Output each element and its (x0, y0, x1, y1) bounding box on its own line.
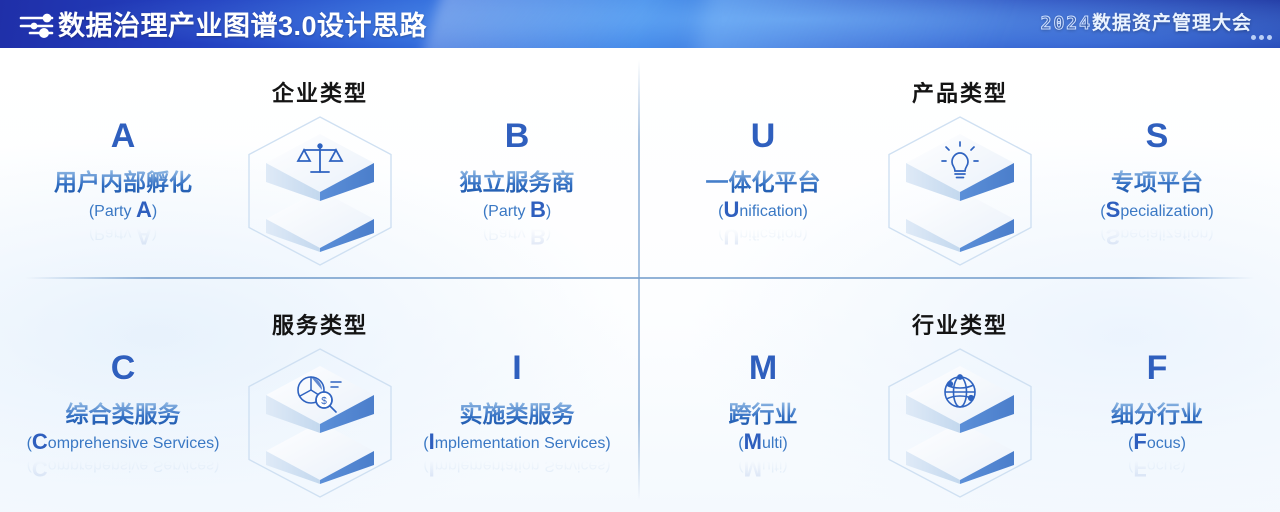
conference-name: 数据资产管理大会 (1092, 13, 1252, 34)
header-dots-decoration (1248, 27, 1272, 45)
item-label-en-reflection: (Implementation Services) (398, 455, 636, 478)
item-label-en: (Specialization) (1038, 200, 1276, 222)
globe-network-icon (883, 346, 1037, 500)
item-letter: S (1038, 116, 1276, 156)
slide-root: 数据治理产业图谱3.0设计思路 2024数据资产管理大会 企业类型 A 用户内部… (0, 0, 1280, 512)
item-label-en-reflection: (Focus) (1038, 455, 1276, 478)
quadrant-title: 企业类型 (0, 76, 640, 108)
item-label-cn: 专项平台 (1038, 168, 1276, 196)
item-u[interactable]: U 一体化平台 (Unification) (Unification) (644, 116, 882, 246)
item-m[interactable]: M 跨行业 (Multi) (Multi) (644, 348, 882, 478)
item-label-en: (Focus) (1038, 432, 1276, 454)
item-label-en: (Unification) (644, 200, 882, 222)
quadrant-title: 行业类型 (640, 308, 1280, 340)
quadrant-row: A 用户内部孵化 (Party A) (Party A) (0, 114, 640, 274)
item-a[interactable]: A 用户内部孵化 (Party A) (Party A) (4, 116, 242, 246)
lightbulb-icon (883, 114, 1037, 268)
item-label-cn: 细分行业 (1038, 400, 1276, 428)
item-b[interactable]: B 独立服务商 (Party B) (Party B) (398, 116, 636, 246)
item-label-cn: 用户内部孵化 (4, 168, 242, 196)
item-label-en-reflection: (Comprehensive Services) (4, 455, 242, 478)
item-letter: B (398, 116, 636, 156)
item-label-en: (Implementation Services) (398, 432, 636, 454)
item-label-en: (Multi) (644, 432, 882, 454)
quadrant-title: 产品类型 (640, 76, 1280, 108)
item-label-cn: 实施类服务 (398, 400, 636, 428)
scales-balance-icon (243, 114, 397, 268)
page-title: 数据治理产业图谱3.0设计思路 (58, 4, 427, 48)
item-label-cn: 独立服务商 (398, 168, 636, 196)
item-letter: I (398, 348, 636, 388)
quadrant-service-type: 服务类型 C 综合类服务 (Comprehensive Services) (C… (0, 280, 640, 512)
svg-text:$: $ (321, 396, 327, 407)
item-label-en: (Party B) (398, 200, 636, 222)
quadrant-industry-type: 行业类型 M 跨行业 (Multi) (Multi) (640, 280, 1280, 512)
item-label-cn: 综合类服务 (4, 400, 242, 428)
item-label-en-reflection: (Party A) (4, 223, 242, 246)
item-f[interactable]: F 细分行业 (Focus) (Focus) (1038, 348, 1276, 478)
item-c[interactable]: C 综合类服务 (Comprehensive Services) (Compre… (4, 348, 242, 478)
conference-brand: 2024数据资产管理大会 (1041, 11, 1252, 37)
item-letter: C (4, 348, 242, 388)
quadrant-row: C 综合类服务 (Comprehensive Services) (Compre… (0, 346, 640, 506)
item-label-cn: 一体化平台 (644, 168, 882, 196)
item-label-cn: 跨行业 (644, 400, 882, 428)
quadrant-title: 服务类型 (0, 308, 640, 340)
item-label-en: (Party A) (4, 200, 242, 222)
item-letter: F (1038, 348, 1276, 388)
item-letter: A (4, 116, 242, 156)
item-s[interactable]: S 专项平台 (Specialization) (Specialization) (1038, 116, 1276, 246)
item-label-en-reflection: (Party B) (398, 223, 636, 246)
item-label-en-reflection: (Specialization) (1038, 223, 1276, 246)
slide-header: 数据治理产业图谱3.0设计思路 2024数据资产管理大会 (0, 0, 1280, 48)
item-label-en-reflection: (Multi) (644, 455, 882, 478)
item-letter: U (644, 116, 882, 156)
item-letter: M (644, 348, 882, 388)
item-label-en: (Comprehensive Services) (4, 432, 242, 454)
pie-chart-magnifier-icon: $ (243, 346, 397, 500)
quadrant-row: M 跨行业 (Multi) (Multi) (640, 346, 1280, 506)
quadrant-enterprise-type: 企业类型 A 用户内部孵化 (Party A) (Party A) (0, 48, 640, 280)
item-label-en-reflection: (Unification) (644, 223, 882, 246)
quadrant-board: 企业类型 A 用户内部孵化 (Party A) (Party A) (0, 48, 1280, 512)
quadrant-product-type: 产品类型 U 一体化平台 (Unification) (Unification) (640, 48, 1280, 280)
conference-year: 2024 (1041, 13, 1092, 34)
sliders-icon (18, 11, 60, 39)
header-sheen-left (411, 0, 750, 48)
quadrant-row: U 一体化平台 (Unification) (Unification) (640, 114, 1280, 274)
item-i[interactable]: I 实施类服务 (Implementation Services) (Imple… (398, 348, 636, 478)
